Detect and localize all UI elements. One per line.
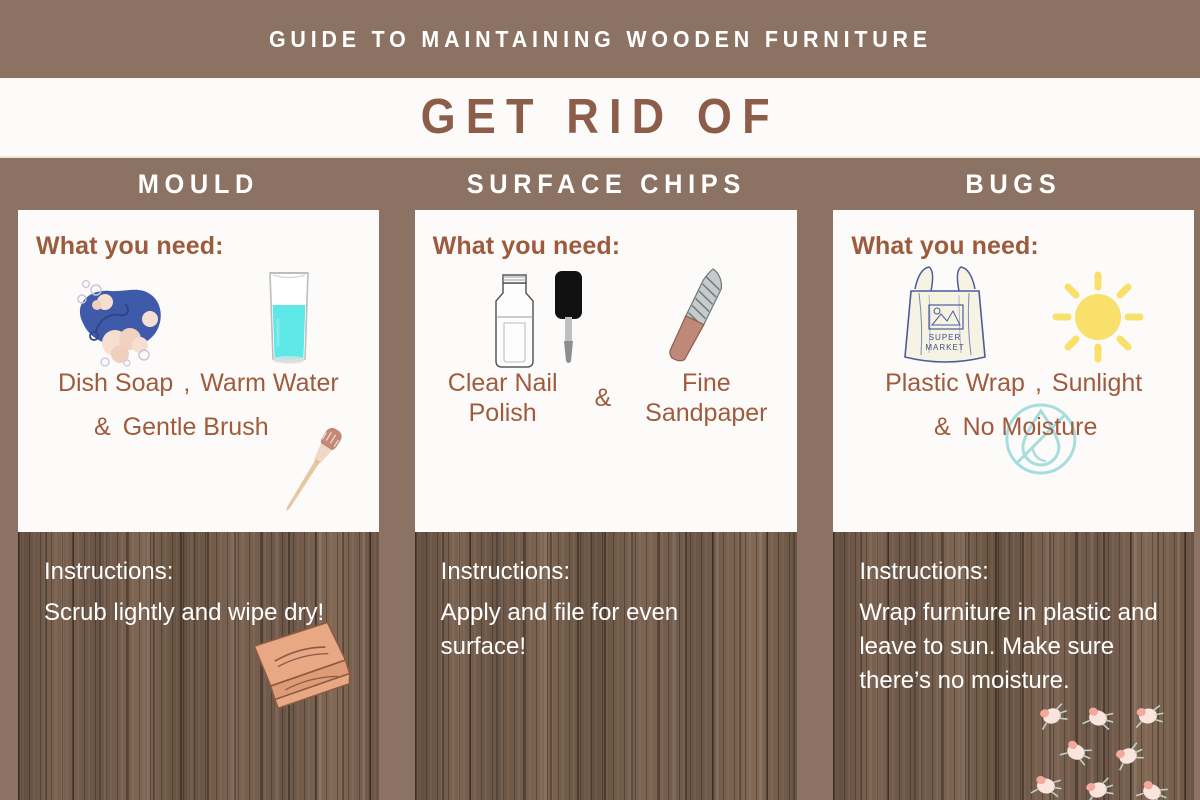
plastic-bag-icon: SUPER MARKET — [893, 261, 997, 378]
ingredient-separator: & — [591, 384, 616, 414]
infographic-page: GUIDE TO MAINTAINING WOODEN FURNITURE GE… — [0, 0, 1200, 800]
materials-card-bugs: What you need: — [833, 210, 1194, 532]
water-glass-icon — [254, 265, 324, 374]
instructions-label: Instructions: — [441, 558, 776, 586]
headline-band: GET RID OF — [0, 78, 1200, 158]
column-heading-mould: MOULD — [29, 158, 368, 210]
columns-container: MOULD What you need: — [0, 158, 1200, 800]
materials-card-mould: What you need: — [18, 210, 379, 532]
materials-icons-bugs: SUPER MARKET — [851, 261, 1176, 369]
instructions-panel-mould: Instructions: Scrub lightly and wipe dry… — [18, 532, 379, 800]
instructions-panel-bugs: Instructions: Wrap furniture in plastic … — [833, 532, 1194, 800]
nail-polish-icon — [479, 261, 599, 378]
column-mould: MOULD What you need: — [0, 158, 397, 800]
ingredient-separator-2: & — [930, 413, 955, 443]
no-moisture-icon — [993, 391, 1089, 495]
bag-label-line1: SUPER — [929, 333, 962, 342]
ingredient-label-clear-nail-polish: Clear Nail Polish — [433, 369, 573, 428]
what-you-need-label: What you need: — [36, 232, 361, 261]
column-heading-surface-chips: SURFACE CHIPS — [426, 158, 786, 210]
page-title: GET RID OF — [420, 89, 779, 145]
what-you-need-label: What you need: — [851, 232, 1176, 261]
instructions-text-mould: Scrub lightly and wipe dry! — [44, 596, 344, 630]
materials-card-surface-chips: What you need: — [415, 210, 798, 532]
ingredient-separator: , — [179, 369, 194, 399]
ingredients-surface-chips: Clear Nail Polish & Fine Sandpaper — [433, 369, 780, 428]
what-you-need-label: What you need: — [433, 232, 780, 261]
instructions-panel-surface-chips: Instructions: Apply and file for even su… — [415, 532, 798, 800]
guide-title: GUIDE TO MAINTAINING WOODEN FURNITURE — [269, 26, 932, 53]
instructions-text-bugs: Wrap furniture in plastic and leave to s… — [859, 596, 1172, 698]
column-heading-bugs: BUGS — [844, 158, 1183, 210]
toothbrush-icon — [253, 415, 365, 530]
ingredient-label-no-moisture: No Moisture — [963, 413, 1098, 443]
materials-icons-surface-chips — [433, 261, 780, 369]
instructions-label: Instructions: — [44, 558, 357, 586]
ingredient-separator-2: & — [90, 413, 115, 443]
bugs-icon — [1024, 694, 1194, 800]
bag-label-line2: MARKET — [926, 343, 965, 352]
column-bugs: BUGS What you need: — [815, 158, 1200, 800]
column-surface-chips: SURFACE CHIPS What you need: — [397, 158, 816, 800]
ingredient-label-fine-sandpaper: Fine Sandpaper — [633, 369, 779, 428]
instructions-label: Instructions: — [859, 558, 1172, 586]
ingredient-label-gentle-brush: Gentle Brush — [123, 413, 269, 443]
ingredient-label-dish-soap: Dish Soap — [58, 369, 173, 399]
nail-file-icon — [647, 263, 757, 376]
sun-icon — [1048, 267, 1148, 372]
instructions-text-surface-chips: Apply and file for even surface! — [441, 596, 741, 664]
ingredients-bugs: Plastic Wrap , Sunlight — [851, 369, 1176, 442]
header-ribbon: GUIDE TO MAINTAINING WOODEN FURNITURE — [0, 0, 1200, 78]
ingredient-label-warm-water: Warm Water — [200, 369, 338, 399]
materials-icons-mould — [36, 261, 361, 369]
soap-bar-icon — [52, 269, 182, 374]
